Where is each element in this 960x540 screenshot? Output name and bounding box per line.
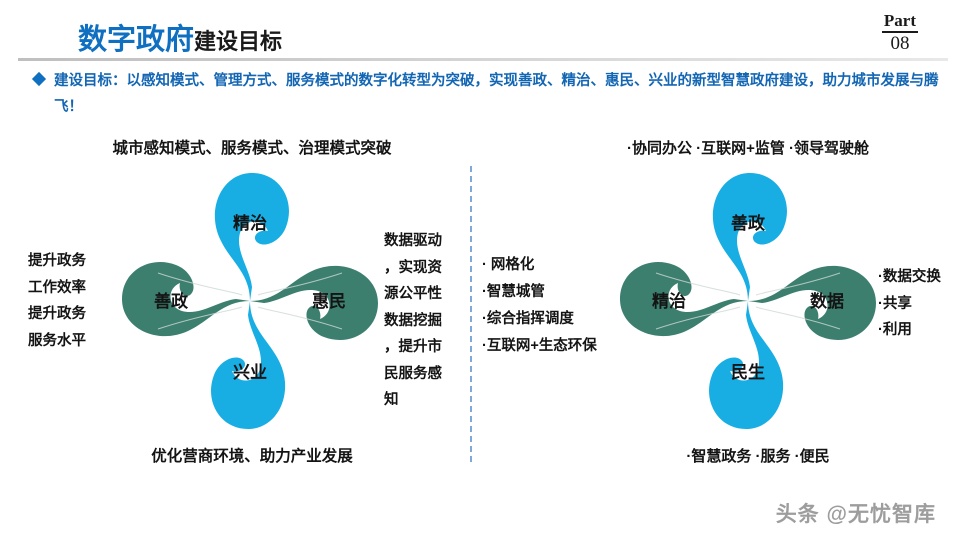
left-petal-label-right: 惠民 (286, 287, 372, 312)
note-line: 民服务感 (384, 361, 464, 388)
note-line: 服务水平 (28, 328, 120, 355)
note-line: ·互联网+生态环保 (482, 333, 602, 360)
note-line: ·利用 (878, 317, 960, 344)
right-petal-label-bottom: 民生 (608, 358, 888, 383)
right-petal-label-right: 数据 (784, 287, 870, 312)
left-diagram-right-notes: 数据驱动 ，实现资 源公平性 数据挖掘 ，提升市 民服务感 知 (384, 228, 464, 414)
petal-top (713, 173, 787, 301)
note-line: ·共享 (878, 291, 960, 318)
left-clover-diagram: 精治 善政 惠民 兴业 (110, 165, 390, 437)
right-petal-label-top: 善政 (608, 209, 888, 234)
objective-block: 建设目标：以感知模式、管理方式、服务模式的数字化转型为突破，实现善政、精治、惠民… (34, 68, 952, 120)
page-title: 数字政府建设目标 (78, 16, 282, 58)
note-line: 数据挖掘 (384, 308, 464, 335)
page-title-rest: 建设目标 (194, 29, 282, 54)
petal-top (215, 173, 289, 301)
left-petal-label-bottom: 兴业 (110, 358, 390, 383)
part-label: Part (882, 12, 918, 33)
note-line: ·综合指挥调度 (482, 306, 602, 333)
right-diagram-top-caption: ·协同办公 ·互联网+监管 ·领导驾驶舱 (578, 136, 918, 162)
left-diagram-top-caption: 城市感知模式、服务模式、治理模式突破 (92, 136, 412, 162)
objective-text: 建设目标：以感知模式、管理方式、服务模式的数字化转型为突破，实现善政、精治、惠民… (54, 68, 952, 120)
note-line: · 网格化 (482, 252, 602, 279)
note-line: 工作效率 (28, 275, 120, 302)
header-divider-line (18, 58, 948, 61)
part-badge: Part 08 (882, 12, 918, 54)
center-divider (470, 166, 472, 462)
right-diagram-bottom-caption: ·智慧政务 ·服务 ·便民 (608, 444, 908, 470)
watermark: 头条 @无忧智库 (776, 498, 936, 528)
right-petal-label-left: 精治 (626, 287, 712, 312)
left-diagram-bottom-caption: 优化营商环境、助力产业发展 (92, 444, 412, 470)
left-diagram-left-notes: 提升政务 工作效率 提升政务 服务水平 (28, 248, 120, 354)
note-line: 提升政务 (28, 301, 120, 328)
note-line: 数据驱动 (384, 228, 464, 255)
note-line: ，提升市 (384, 334, 464, 361)
middle-notes: · 网格化 ·智慧城管 ·综合指挥调度 ·互联网+生态环保 (482, 252, 602, 360)
note-line: 提升政务 (28, 248, 120, 275)
right-diagram-right-notes: ·数据交换 ·共享 ·利用 (878, 264, 960, 344)
part-number: 08 (882, 33, 918, 54)
note-line: 知 (384, 387, 464, 414)
slide-header: 数字政府建设目标 Part 08 (0, 0, 960, 62)
right-clover-diagram: 善政 精治 数据 民生 (608, 165, 888, 437)
diamond-bullet-icon (32, 72, 46, 86)
left-petal-label-left: 善政 (128, 287, 214, 312)
note-line: ·智慧城管 (482, 279, 602, 306)
note-line: 源公平性 (384, 281, 464, 308)
note-line: ，实现资 (384, 255, 464, 282)
left-petal-label-top: 精治 (110, 209, 390, 234)
note-line: ·数据交换 (878, 264, 960, 291)
page-title-highlight: 数字政府 (78, 24, 194, 56)
